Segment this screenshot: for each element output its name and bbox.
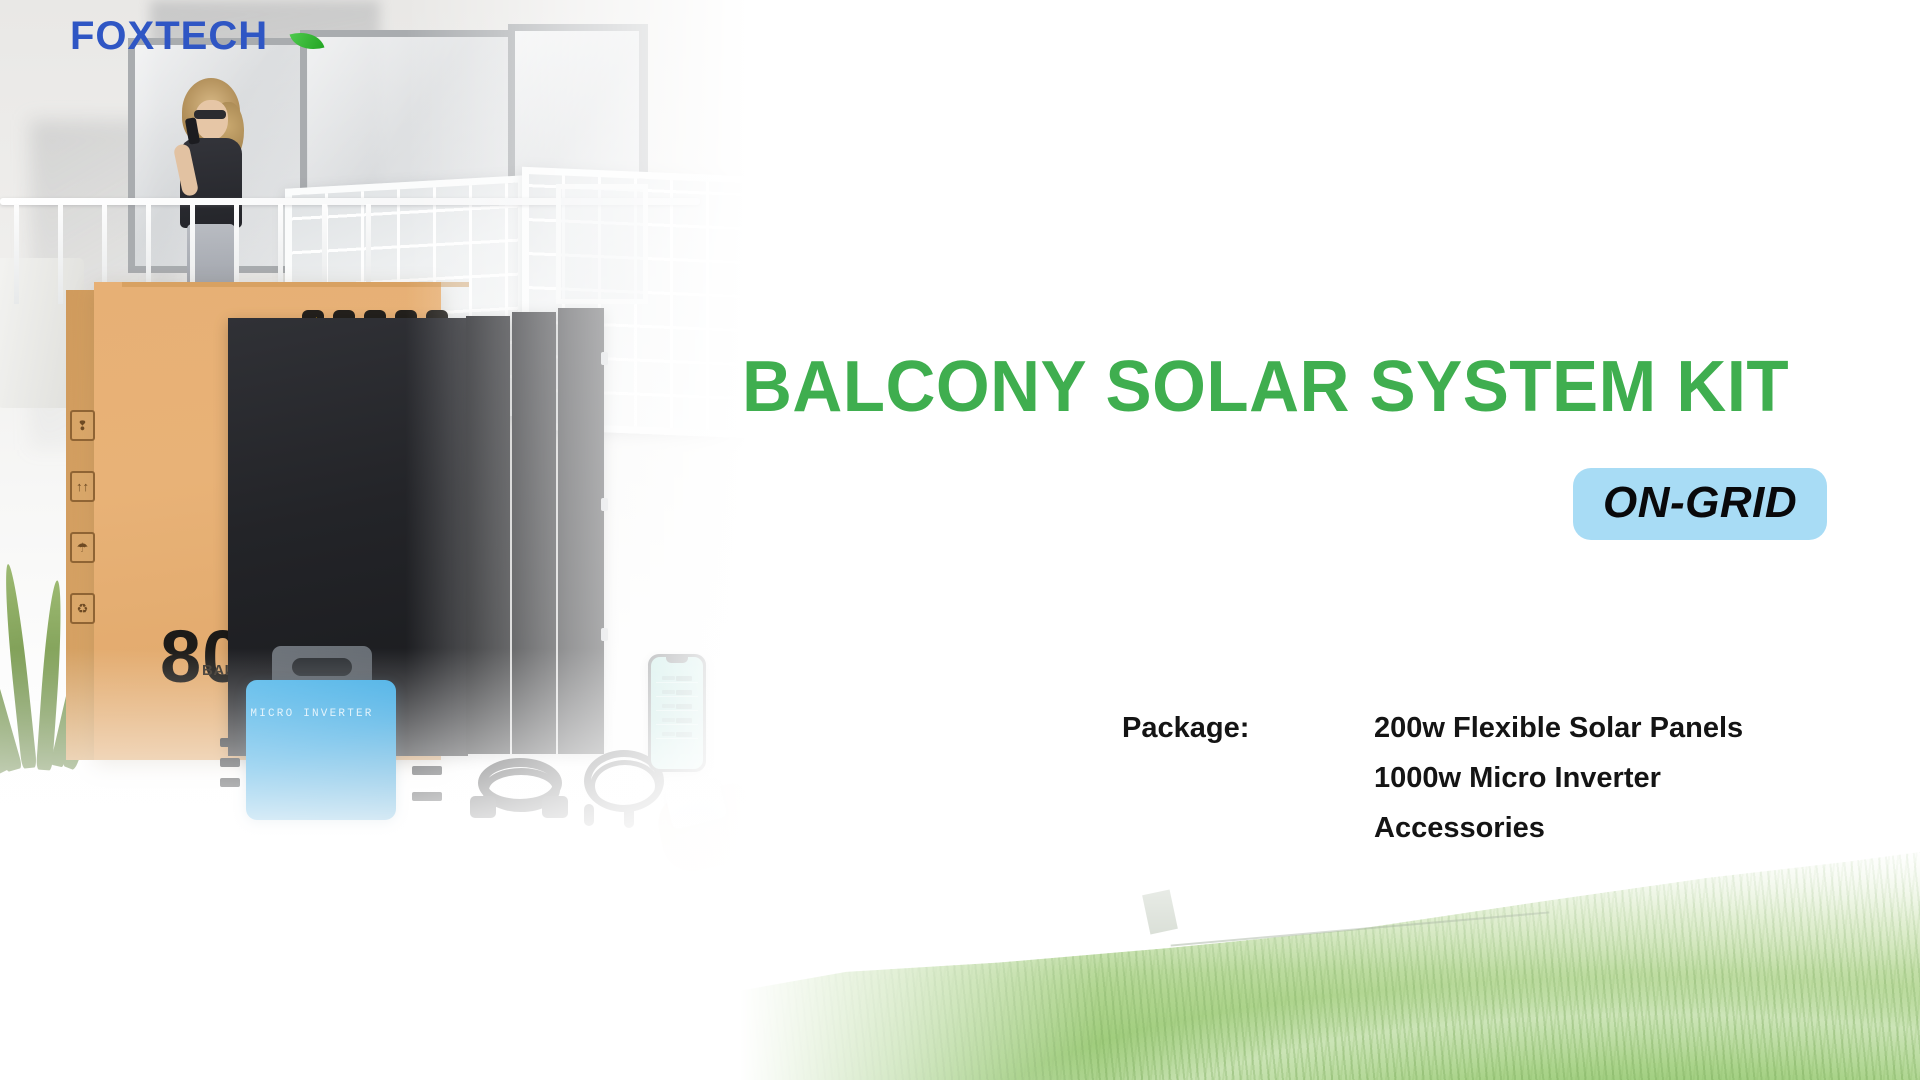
package-item: 200w Flexible Solar Panels (1374, 712, 1743, 745)
inverter-dc-port (220, 778, 240, 787)
carton-top-edge (122, 282, 469, 287)
page-title: BALCONY SOLAR SYSTEM KIT (742, 346, 1789, 428)
railing-glass-panel (556, 184, 648, 304)
inverter-dc-port (220, 758, 240, 767)
grass-field (740, 820, 1920, 1080)
mc4-connector (584, 804, 594, 826)
railing-baluster (14, 204, 19, 304)
package-item: Accessories (1374, 812, 1743, 845)
handle-cutout (292, 658, 352, 676)
recycle-icon: ♻ (70, 593, 95, 624)
fragile-icon: ❢ (70, 410, 95, 441)
keep-dry-icon: ☂ (70, 532, 95, 563)
badge-label: ON-GRID (1603, 478, 1797, 527)
sunglasses-icon (194, 110, 226, 119)
face (195, 100, 228, 140)
phone-notch (666, 657, 688, 663)
brand-logo[interactable]: FOXTECH (70, 14, 268, 59)
inverter-dc-port (220, 738, 240, 747)
brand-logo-text: FOXTECH (70, 14, 268, 59)
panel-mount-tab (601, 628, 608, 641)
carton-handling-icons: ❢ ↑↑ ☂ ♻ (70, 410, 95, 624)
inverter-body (246, 680, 396, 820)
cable-connector (542, 796, 568, 818)
inverter-ac-port (412, 766, 442, 775)
package-item-list: 200w Flexible Solar Panels 1000w Micro I… (1374, 712, 1743, 845)
inverter-label: MICRO INVERTER (250, 708, 374, 720)
monitoring-phone (648, 654, 706, 772)
inverter-ac-port (412, 792, 442, 801)
package-item: 1000w Micro Inverter (1374, 762, 1743, 795)
product-banner: ⚡ ● ✖ ■ ▬ 800 BALCONY S ❢ ↑↑ ☂ ♻ (0, 0, 1920, 1080)
micro-inverter: MICRO INVERTER (236, 646, 416, 836)
stacked-solar-panel (512, 312, 556, 754)
stacked-solar-panel (558, 308, 604, 754)
product-photo-scene: ⚡ ● ✖ ■ ▬ 800 BALCONY S ❢ ↑↑ ☂ ♻ (0, 0, 780, 900)
panel-mount-tab (601, 498, 608, 511)
package-label: Package: (1122, 712, 1249, 745)
status-badge: ON-GRID (1573, 468, 1827, 540)
ac-power-cable (470, 754, 580, 832)
app-screen (651, 657, 703, 769)
panel-mount-tab (601, 352, 608, 365)
mc4-connector (624, 806, 634, 828)
railing-baluster (58, 204, 63, 304)
inverter-ac-port (412, 740, 442, 749)
cable-connector (470, 796, 496, 818)
this-side-up-icon: ↑↑ (70, 471, 95, 502)
grass-left-fade (740, 820, 1100, 1080)
stacked-solar-panel (466, 316, 510, 754)
